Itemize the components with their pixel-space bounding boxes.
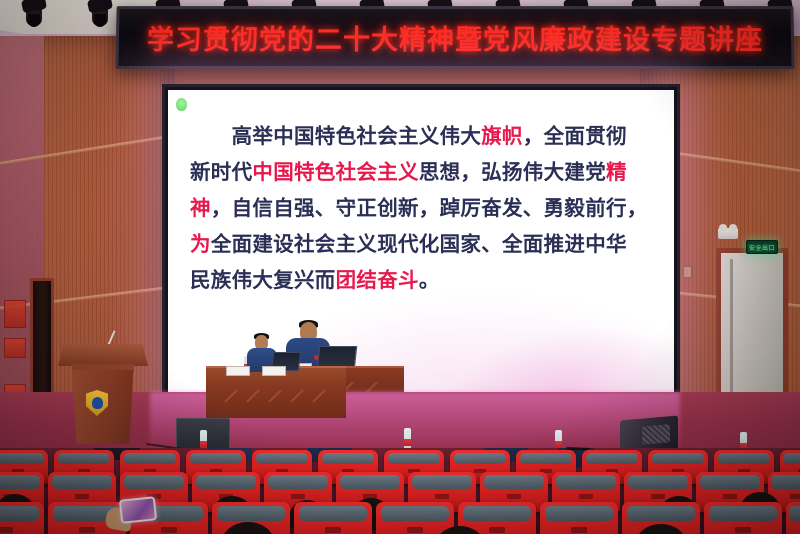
emergency-light-icon — [718, 228, 738, 239]
auditorium-seat[interactable] — [786, 502, 800, 534]
slide-line-5: 民族伟大复兴而团结奋斗。 — [190, 262, 654, 298]
slide-line-3: 神，自信自强、守正创新，踔厉奋发、勇毅前行， — [190, 190, 654, 226]
slide-text-run: 高举中国特色社会主义伟大 — [190, 124, 481, 148]
fire-equipment-box — [4, 338, 26, 358]
exit-sign-label: 安全出口 — [749, 243, 775, 252]
auditorium-seat[interactable] — [0, 502, 44, 534]
speaker-nameplate — [262, 366, 286, 376]
led-banner: 学习贯彻党的二十大精神暨党风廉政建设专题讲座 — [115, 6, 794, 69]
stage-spotlight — [92, 0, 108, 26]
wall-switch-box[interactable] — [683, 266, 692, 278]
podium — [58, 344, 148, 452]
slide-line-4: 为全面建设社会主义现代化国家、全面推进中华 — [190, 226, 654, 262]
slide-highlight-run: 神 — [190, 196, 211, 220]
slide-text-run: 全面建设社会主义现代化国家、全面推进中华 — [211, 232, 627, 256]
slide-text-run: 民族伟大复兴而 — [190, 268, 336, 292]
podium-top — [58, 344, 148, 366]
exit-sign-icon: 安全出口 — [746, 240, 778, 254]
smartphone-screen[interactable] — [119, 496, 157, 524]
stage-spotlight — [26, 0, 42, 26]
slide-text-block: 高举中国特色社会主义伟大旗帜，全面贯彻新时代中国特色社会主义思想，弘扬伟大建党精… — [190, 118, 654, 298]
auditorium-seat[interactable] — [294, 502, 372, 534]
auditorium-seat[interactable] — [540, 502, 618, 534]
slide-text-run: 。 — [419, 268, 440, 292]
fire-equipment-box — [4, 300, 26, 328]
slide-line-1: 高举中国特色社会主义伟大旗帜，全面贯彻 — [190, 118, 654, 154]
water-bottle-icon — [404, 428, 411, 450]
auditorium-seat[interactable] — [704, 502, 782, 534]
slide-highlight-run: 为 — [190, 232, 211, 256]
slide-highlight-run: 旗帜 — [481, 124, 523, 148]
slide-line-2: 新时代中国特色社会主义思想，弘扬伟大建党精 — [190, 154, 654, 190]
auditorium-seat[interactable] — [376, 502, 454, 534]
lecture-hall-photo: 安全出口 学习贯彻党的二十大精神暨党风廉政建设专题讲座 高举中国特色社会主义伟大… — [0, 0, 800, 534]
screen-status-led-icon — [176, 98, 187, 111]
led-banner-text: 学习贯彻党的二十大精神暨党风廉政建设专题讲座 — [147, 18, 764, 57]
slide-highlight-run: 中国特色社会主义 — [252, 160, 418, 184]
slide-text-run: ，自信自强、守正创新，踔厉奋发、勇毅前行， — [211, 196, 648, 220]
slide-text-run: 新时代 — [190, 160, 252, 184]
slide-highlight-run: 精 — [606, 160, 627, 184]
slide-highlight-run: 团结奋斗 — [336, 268, 419, 292]
speaker-nameplate — [226, 366, 250, 376]
slide-text-run: ，全面贯彻 — [523, 124, 627, 148]
slide-text-run: 思想，弘扬伟大建党 — [419, 160, 606, 184]
